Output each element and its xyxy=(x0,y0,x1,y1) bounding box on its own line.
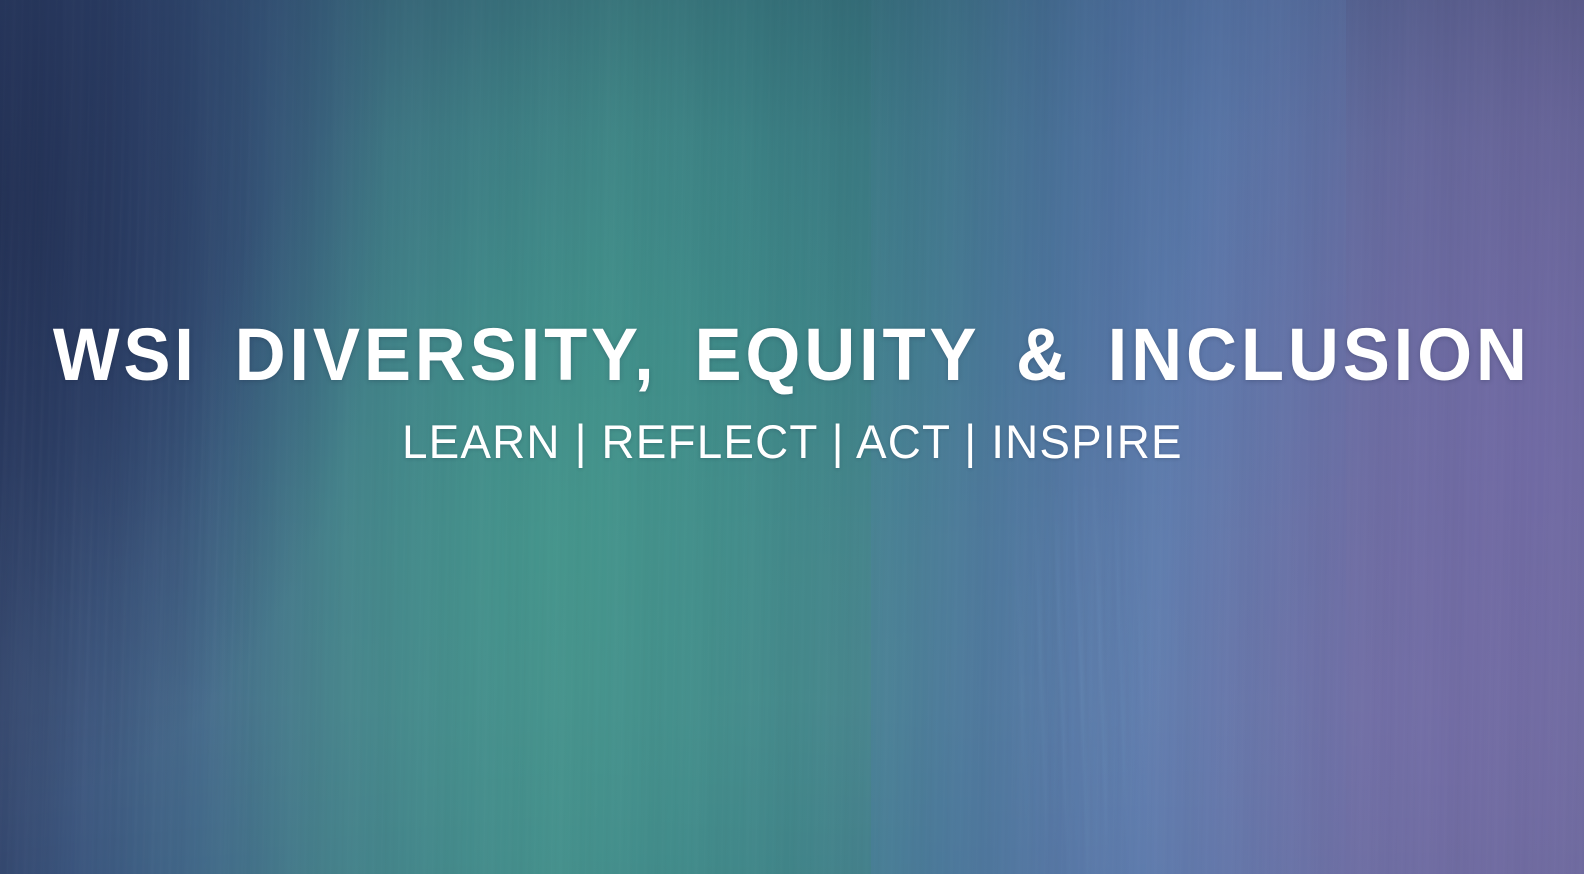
banner-tagline: LEARN | REFLECT | ACT | INSPIRE xyxy=(402,392,1183,465)
dei-banner: WSI DIVERSITY, EQUITY & INCLUSION LEARN … xyxy=(0,0,1584,874)
banner-content: WSI DIVERSITY, EQUITY & INCLUSION LEARN … xyxy=(0,0,1584,874)
banner-headline: WSI DIVERSITY, EQUITY & INCLUSION xyxy=(53,318,1531,392)
